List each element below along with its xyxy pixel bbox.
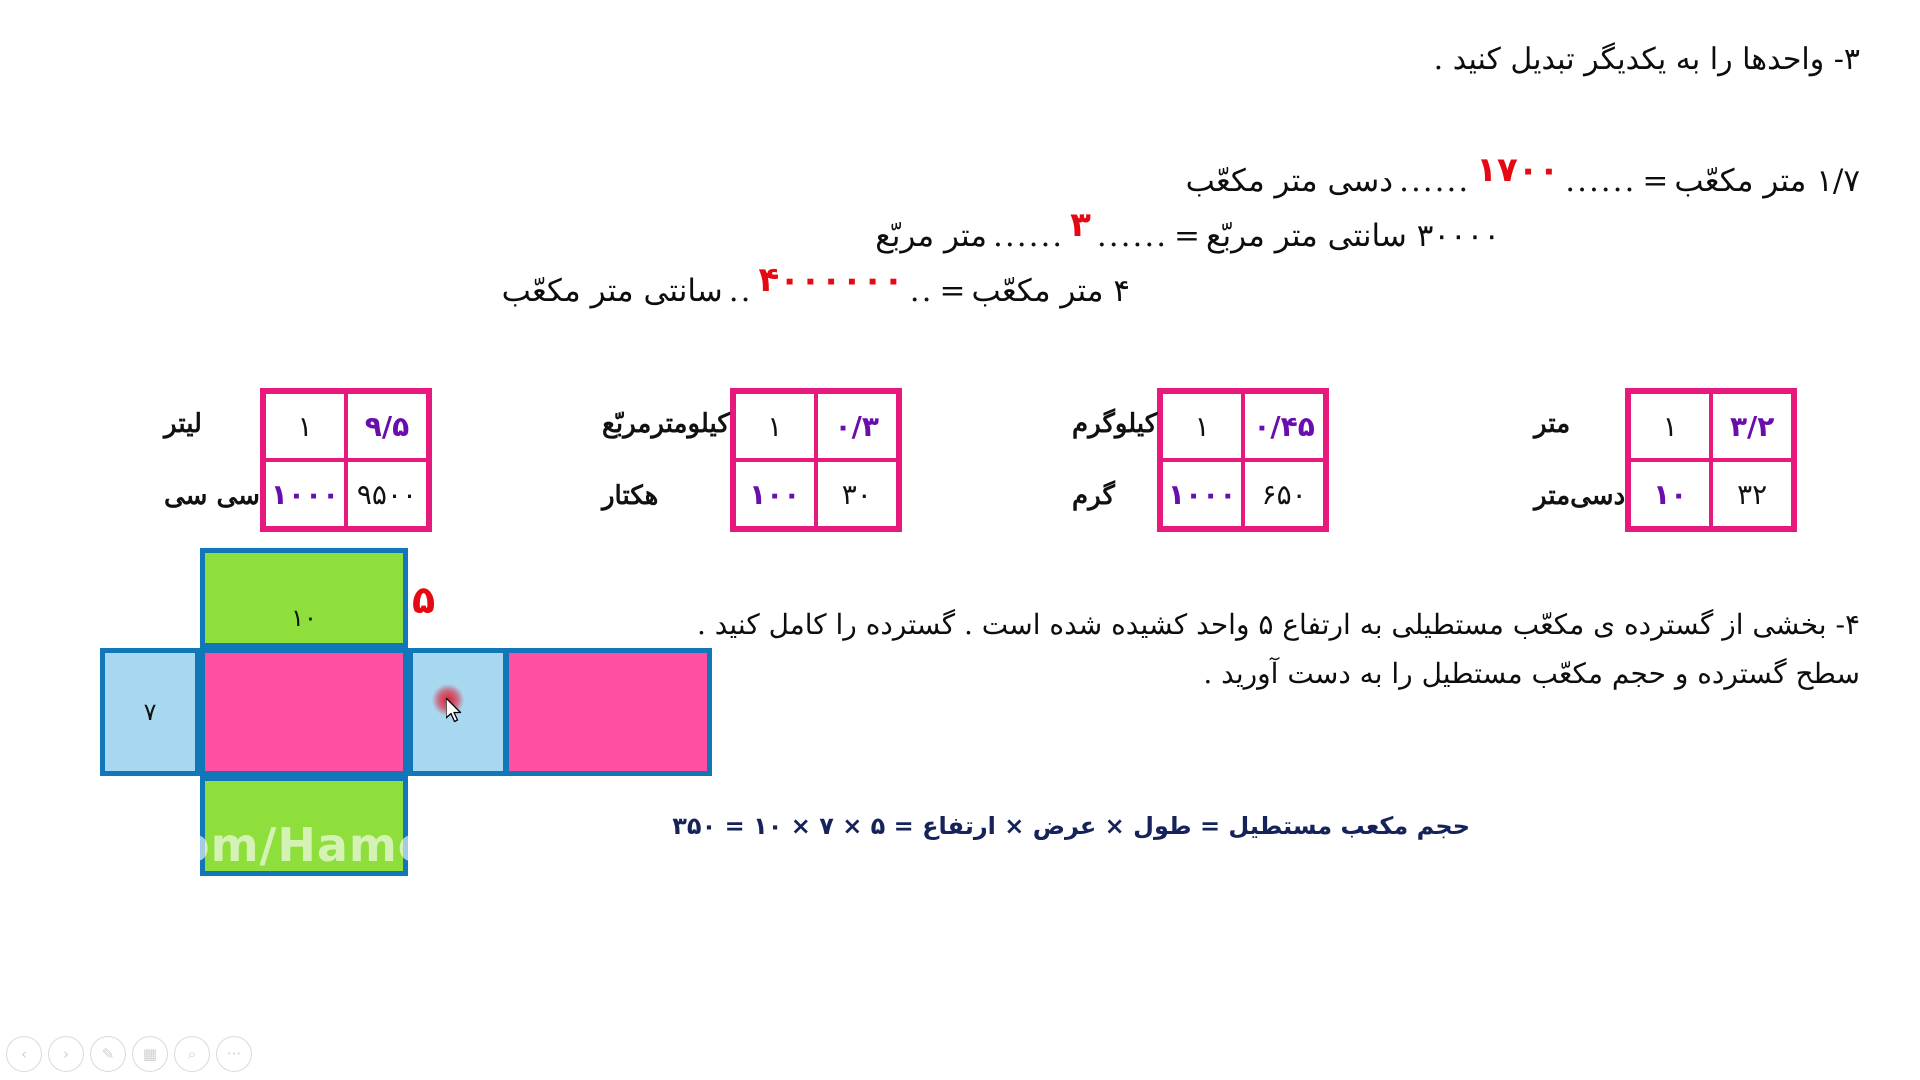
unit-table-kg-cell-1-0: ۶۵۰: [1243, 460, 1325, 528]
conversion-row-1: ۱/۷ متر مکعّب = ...... ۱۷۰۰ ...... دسی م…: [1186, 160, 1860, 200]
mouse-cursor-icon: [446, 698, 466, 726]
back-icon[interactable]: ‹: [6, 1036, 42, 1072]
unit-table-meter-grid: ۳/۲ ۱ ۳۲ ۱۰: [1625, 388, 1797, 532]
net-face-bottom[interactable]: [200, 776, 408, 876]
conversion-1-answer: ۱۷۰۰: [1476, 150, 1559, 190]
forward-icon[interactable]: ›: [48, 1036, 84, 1072]
unit-table-km2-cell-0-0[interactable]: ۰/۳: [816, 392, 898, 460]
unit-table-kg-cell-0-1: ۱: [1161, 392, 1243, 460]
conversion-3-answer: ۴۰۰۰۰۰۰: [758, 260, 903, 300]
unit-table-meter-cell-0-0[interactable]: ۳/۲: [1711, 392, 1793, 460]
more-icon[interactable]: ···: [216, 1036, 252, 1072]
question-4-line-2: سطح گسترده و حجم مکعّب مستطیل را به دست …: [1203, 657, 1860, 690]
cuboid-net-diagram[interactable]: ۱۰ ۷: [100, 548, 720, 878]
net-height-annotation: ۵: [412, 578, 435, 622]
net-face-left[interactable]: ۷: [100, 648, 200, 776]
net-face-center[interactable]: [200, 648, 408, 776]
volume-formula-answer: حجم مکعب مستطیل = طول × عرض × ارتفاع = ۵…: [672, 812, 1470, 840]
unit-table-liter-cell-0-1: ۱: [264, 392, 346, 460]
unit-table-meter-row-label-1: دسی‌متر: [1534, 462, 1625, 530]
unit-table-km2-cell-1-1[interactable]: ۱۰۰: [734, 460, 816, 528]
unit-table-kg-row-label-1: گرم: [1072, 462, 1157, 530]
conversion-3-dots-before: ..: [910, 273, 934, 309]
conversion-1-dots-after: ......: [1399, 163, 1470, 199]
net-face-far-right[interactable]: [504, 648, 712, 776]
unit-table-liter-labels: لیتر سی سی: [156, 388, 260, 532]
pen-icon[interactable]: ✎: [90, 1036, 126, 1072]
unit-table-liter-cell-0-0[interactable]: ۹/۵: [346, 392, 428, 460]
unit-table-kg: کیلوگرم گرم ۰/۴۵ ۱ ۶۵۰ ۱۰۰۰: [1064, 388, 1329, 532]
conversion-2-dots-after: ......: [993, 218, 1064, 254]
conversion-2-equals: =: [1174, 218, 1200, 254]
unit-table-km2-row-label-1: هکتار: [602, 462, 730, 530]
conversion-2-answer: ۳: [1070, 205, 1091, 245]
conversion-2-dots-before: ......: [1097, 218, 1168, 254]
conversion-3-right: سانتی متر مکعّب: [502, 273, 723, 309]
unit-table-kg-cell-0-0[interactable]: ۰/۴۵: [1243, 392, 1325, 460]
unit-table-km2-cell-0-1: ۱: [734, 392, 816, 460]
unit-table-meter: متر دسی‌متر ۳/۲ ۱ ۳۲ ۱۰: [1526, 388, 1797, 532]
unit-table-liter-row-label-0: لیتر: [164, 390, 260, 458]
unit-table-meter-cell-0-1: ۱: [1629, 392, 1711, 460]
conversion-1-left: ۱/۷ متر مکعّب: [1674, 163, 1860, 199]
unit-table-km2: کیلومترمربّع هکتار ۰/۳ ۱ ۳۰ ۱۰۰: [594, 388, 902, 532]
unit-table-liter-grid: ۹/۵ ۱ ۹۵۰۰ ۱۰۰۰: [260, 388, 432, 532]
unit-table-km2-grid: ۰/۳ ۱ ۳۰ ۱۰۰: [730, 388, 902, 532]
net-face-top[interactable]: ۱۰: [200, 548, 408, 648]
conversion-3-equals: =: [939, 273, 965, 309]
unit-table-km2-labels: کیلومترمربّع هکتار: [594, 388, 730, 532]
conversion-3-dots-after: ..: [729, 273, 753, 309]
conversion-2-left: ۳۰۰۰۰ سانتی متر مربّع: [1206, 218, 1500, 254]
conversion-1-right: دسی متر مکعّب: [1186, 163, 1394, 199]
conversion-row-2: ۳۰۰۰۰ سانتی متر مربّع = ...... ۳ ...... …: [875, 215, 1500, 255]
net-face-left-label: ۷: [144, 698, 157, 726]
conversion-2-right: متر مربّع: [875, 218, 987, 254]
unit-table-liter-cell-1-1[interactable]: ۱۰۰۰: [264, 460, 346, 528]
conversion-row-3: ۴ متر مکعّب = .. ۴۰۰۰۰۰۰ .. سانتی متر مک…: [502, 270, 1130, 310]
conversion-3-left: ۴ متر مکعّب: [971, 273, 1130, 309]
net-face-top-label: ۱۰: [291, 604, 317, 632]
viewer-toolbar[interactable]: ‹ › ✎ ▦ ⌕ ···: [6, 1036, 252, 1072]
unit-table-kg-row-label-0: کیلوگرم: [1072, 390, 1157, 458]
unit-table-liter: لیتر سی سی ۹/۵ ۱ ۹۵۰۰ ۱۰۰۰: [156, 388, 432, 532]
slides-icon[interactable]: ▦: [132, 1036, 168, 1072]
zoom-icon[interactable]: ⌕: [174, 1036, 210, 1072]
question-3-title: ۳- واحدها را به یکدیگر تبدیل کنید .: [1434, 42, 1860, 77]
conversion-1-dots-before: ......: [1565, 163, 1636, 199]
unit-table-kg-cell-1-1[interactable]: ۱۰۰۰: [1161, 460, 1243, 528]
unit-table-kg-labels: کیلوگرم گرم: [1064, 388, 1157, 532]
unit-table-liter-row-label-1: سی سی: [164, 462, 260, 530]
conversion-1-equals: =: [1642, 163, 1668, 199]
unit-table-liter-cell-1-0: ۹۵۰۰: [346, 460, 428, 528]
unit-table-meter-labels: متر دسی‌متر: [1526, 388, 1625, 532]
unit-table-meter-cell-1-1[interactable]: ۱۰: [1629, 460, 1711, 528]
question-4-line-1: ۴- بخشی از گسترده ی مکعّب مستطیلی به ارت…: [697, 608, 1860, 641]
unit-table-km2-cell-1-0: ۳۰: [816, 460, 898, 528]
unit-table-meter-row-label-0: متر: [1534, 390, 1625, 458]
unit-table-meter-cell-1-0: ۳۲: [1711, 460, 1793, 528]
unit-table-kg-grid: ۰/۴۵ ۱ ۶۵۰ ۱۰۰۰: [1157, 388, 1329, 532]
unit-table-km2-row-label-0: کیلومترمربّع: [602, 390, 730, 458]
